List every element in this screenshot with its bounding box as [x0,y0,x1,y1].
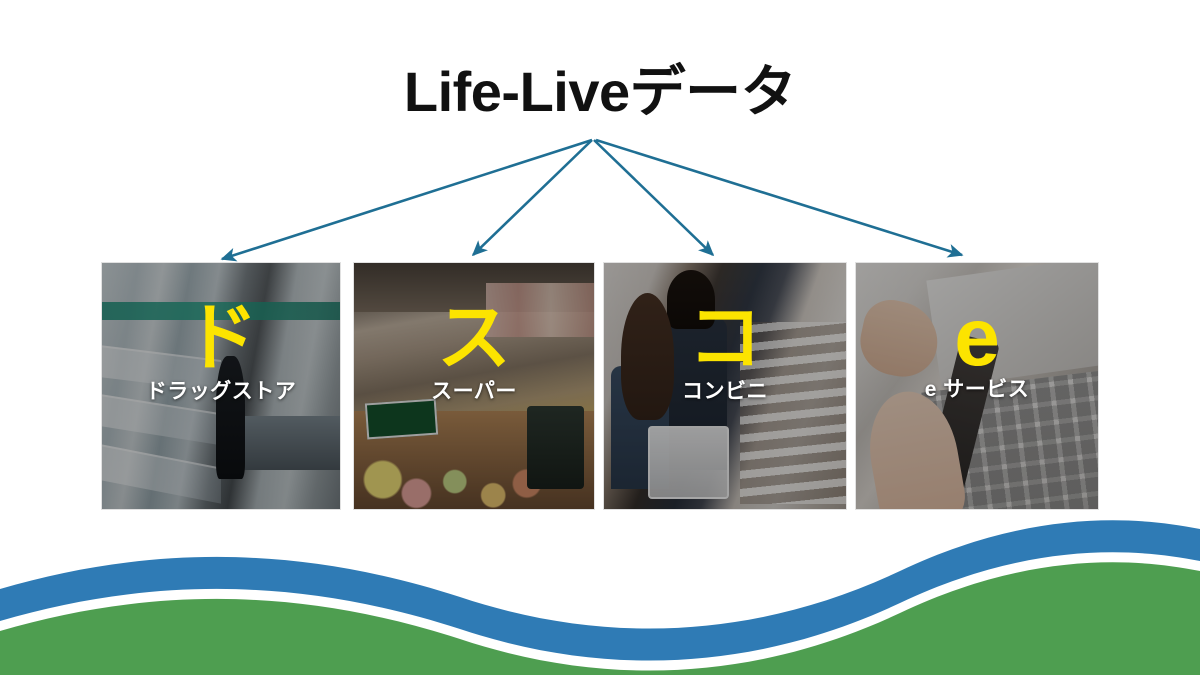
category-label-eservice: e サービス [856,373,1098,403]
slide-canvas: Life-Liveデータ ド ドラッグストア [0,0,1200,675]
page-title: Life-Liveデータ [0,62,1200,122]
category-card-eservice[interactable]: e e サービス [856,263,1098,509]
category-card-drugstore[interactable]: ド ドラッグストア [102,263,340,509]
arrow-to-eservice [596,140,962,255]
arrow-to-supermarket [473,140,592,255]
category-initial-supermarket: ス [354,301,594,375]
category-label-drugstore: ドラッグストア [102,375,340,405]
category-card-convenience[interactable]: コ コンビニ [604,263,846,509]
category-initial-eservice: e [856,297,1098,379]
category-label-convenience: コンビニ [604,375,846,405]
category-card-supermarket[interactable]: ス スーパー [354,263,594,509]
arrow-to-drugstore [222,140,592,259]
category-label-supermarket: スーパー [354,375,594,405]
arrow-to-convenience [594,140,713,255]
category-initial-drugstore: ド [102,301,340,375]
wave-decoration [0,485,1200,675]
category-initial-convenience: コ [604,301,846,375]
